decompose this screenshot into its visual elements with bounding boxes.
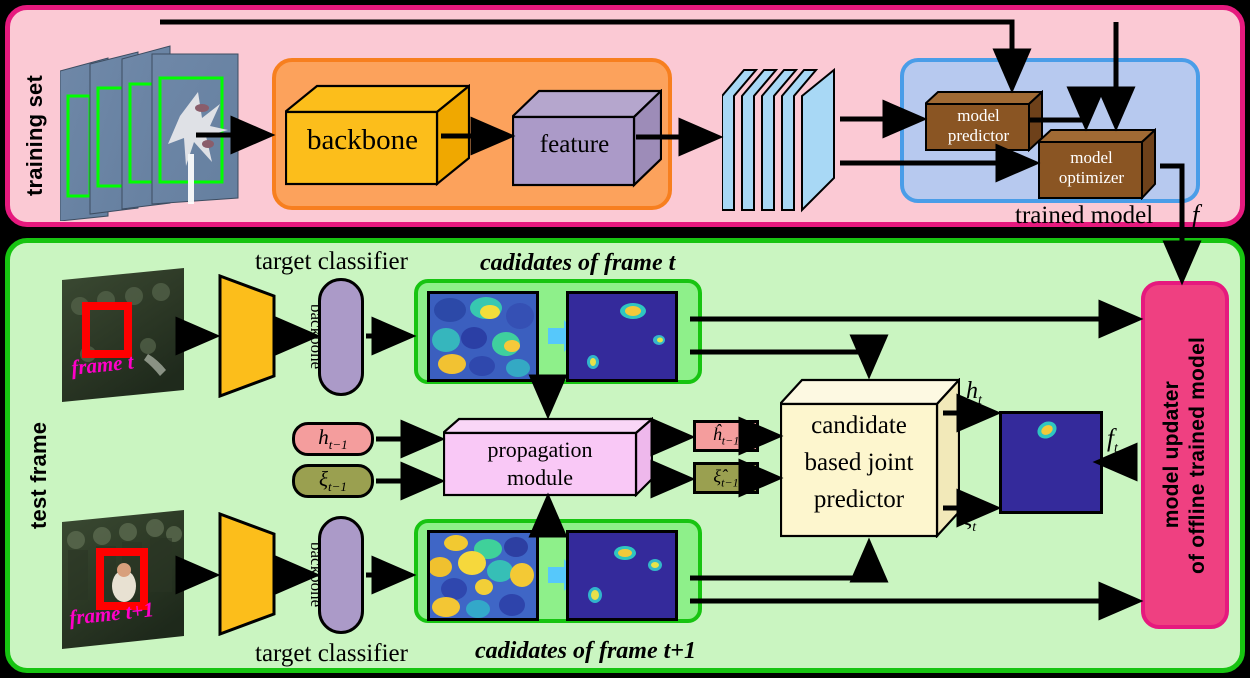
- target-classifier-t-label: target classifier: [255, 248, 408, 276]
- model-predictor-label-line1: model: [927, 106, 1030, 126]
- f-t-feedback-label: ft: [1107, 425, 1118, 457]
- h-hat-prev-symbol: ĥt−1: [713, 424, 739, 449]
- backbone-label: backbone: [287, 124, 438, 157]
- xi-hat-prev-state: ξ̂t−1: [693, 462, 759, 494]
- joint-predictor-box: candidate based joint predictor: [780, 378, 960, 538]
- training-set-label: training set: [22, 60, 50, 212]
- h-prev-symbol: ht−1: [318, 425, 347, 453]
- backbone-t-box: backbone: [218, 274, 278, 398]
- backbone-t1-box: backbone: [218, 512, 278, 636]
- xi-prev-symbol: ξt−1: [319, 467, 347, 495]
- propagation-label-line1: propagation: [444, 437, 636, 463]
- candidate-map-t: [566, 291, 678, 382]
- propagation-module-box: propagation module: [443, 417, 653, 497]
- h-hat-prev-state: ĥt−1: [693, 420, 759, 452]
- figure-root: training set: [0, 0, 1250, 678]
- frame-t1-image: frame t+1: [62, 510, 187, 650]
- backbone-box: backbone: [285, 84, 470, 189]
- trained-model-caption: trained model: [1015, 202, 1153, 230]
- candidates-t-label: cadidates of frame t: [480, 250, 675, 277]
- score-map-t1: [427, 530, 539, 621]
- frame-t-image: frame t: [62, 268, 187, 403]
- target-classifier-t1: [318, 516, 364, 634]
- score-map-t: [427, 291, 539, 382]
- candidate-map-t1: [566, 530, 678, 621]
- model-optimizer-label-line2: optimizer: [1040, 168, 1143, 188]
- target-classifier-t1-label: target classifier: [255, 640, 408, 668]
- model-predictor-label-line2: predictor: [927, 126, 1030, 146]
- test-frame-label: test frame: [26, 395, 54, 555]
- backbone-t1-label: backbone: [236, 530, 326, 620]
- xi-hat-prev-symbol: ξ̂t−1: [713, 466, 738, 491]
- xi-prev-state: ξt−1: [292, 464, 374, 498]
- candidates-t1-label: cadidates of frame t+1: [475, 638, 696, 665]
- final-response-map: [999, 411, 1103, 514]
- joint-predictor-label-line3: predictor: [781, 486, 937, 514]
- model-optimizer-label-line1: model: [1040, 148, 1143, 168]
- model-optimizer-box: model optimizer: [1038, 128, 1156, 200]
- model-updater-box: model updater of offline trained model: [1141, 281, 1229, 629]
- training-image-stack: [60, 26, 240, 221]
- target-classifier-t: [318, 278, 364, 396]
- h-prev-state: ht−1: [292, 422, 374, 456]
- model-updater-label-line1: model updater: [1160, 381, 1184, 528]
- feature-label: feature: [514, 131, 635, 159]
- backbone-t-label: backbone: [236, 292, 326, 382]
- model-updater-label-line2: of offline trained model: [1186, 337, 1210, 574]
- joint-predictor-label-line2: based joint: [781, 449, 937, 477]
- model-predictor-box: model predictor: [925, 90, 1043, 152]
- trained-model-output-symbol: f: [1192, 200, 1199, 230]
- feature-box: feature: [512, 89, 662, 189]
- xi-t-output-label: ξt: [962, 505, 976, 536]
- feature-map-stack: [722, 58, 857, 220]
- h-t-output-label: ht: [966, 378, 982, 409]
- joint-predictor-label-line1: candidate: [781, 412, 937, 440]
- propagation-label-line2: module: [444, 465, 636, 491]
